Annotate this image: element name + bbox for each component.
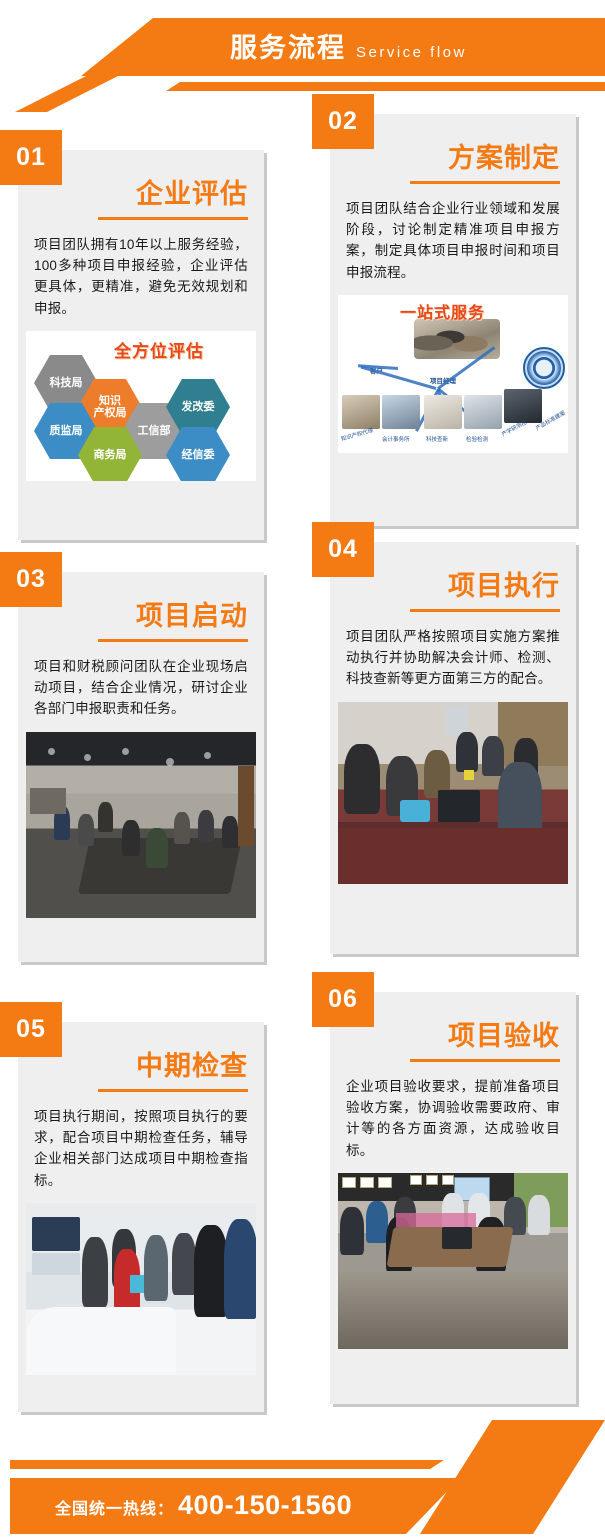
- page-footer: 全国统一热线： 400-150-1560: [0, 1420, 605, 1538]
- page-header: 服务流程 Service flow: [0, 0, 605, 112]
- project-acceptance-photo: [338, 1173, 568, 1349]
- service-flow-infographic: 服务流程 Service flow 01 企业评估 项目团队拥有10年以上服务经…: [0, 0, 605, 1538]
- one-stop-service-figure: 一站式服务 客户 项目经理: [338, 295, 568, 453]
- step-body-02: 项目团队结合企业行业领域和发展阶段，讨论制定精准项目申报方案，制定具体项目申报时…: [330, 184, 576, 295]
- page-title: 服务流程: [230, 26, 346, 65]
- header-title-group: 服务流程 Service flow: [230, 26, 467, 65]
- hotline-group[interactable]: 全国统一热线： 400-150-1560: [55, 1490, 352, 1521]
- thumb-ip-agency: [342, 395, 380, 429]
- step-card-04[interactable]: 04 项目执行 项目团队严格按照项目实施方案推动执行并协助解决会计师、检测、科技…: [330, 542, 576, 954]
- step-body-01: 项目团队拥有10年以上服务经验，100多种项目申报经验，企业评估更具体，更精准，…: [18, 220, 264, 331]
- assessment-hexagon-figure: 全方位评估 科技局 知识 产权局 质监局 工信部: [26, 331, 256, 481]
- step-body-06: 企业项目验收要求，提前准备项目验收方案，协调验收需要政府、审计等的各方面资源，达…: [330, 1062, 576, 1173]
- hexagon-chart-title: 全方位评估: [114, 337, 204, 362]
- step-body-05: 项目执行期间，按照项目执行的要求，配合项目中期检查任务，辅导企业相关部门达成项目…: [18, 1092, 264, 1203]
- label-inspection: 检验检测: [466, 435, 488, 443]
- label-tech-search: 科技查新: [426, 435, 448, 443]
- step-number-badge-06: 06: [312, 972, 374, 1027]
- step-card-02[interactable]: 02 方案制定 项目团队结合企业行业领域和发展阶段，讨论制定精准项目申报方案，制…: [330, 114, 576, 526]
- certification-seal-icon: [523, 347, 565, 389]
- step-body-03: 项目和财税顾问团队在企业现场启动项目，结合企业情况，研讨企业各部门申报职责和任务…: [18, 642, 264, 732]
- step-number-badge-03: 03: [0, 552, 62, 607]
- hotline-number: 400-150-1560: [178, 1490, 352, 1521]
- step-number-badge-04: 04: [312, 522, 374, 577]
- footer-diagonal-wedge: [420, 1420, 605, 1534]
- project-kickoff-photo: [26, 732, 256, 918]
- mid-term-inspection-photo: [26, 1203, 256, 1375]
- step-card-06[interactable]: 06 项目验收 企业项目验收要求，提前准备项目验收方案，协调验收需要政府、审计等…: [330, 992, 576, 1404]
- arrow-down-left: [361, 366, 437, 390]
- thumb-inspection: [464, 395, 502, 429]
- step-body-04: 项目团队严格按照项目实施方案推动执行并协助解决会计师、检测、科技查新等更方面第三…: [330, 612, 576, 702]
- one-stop-service-title: 一站式服务: [400, 299, 485, 323]
- label-accounting: 会计事务所: [382, 435, 410, 443]
- hotline-label: 全国统一热线：: [55, 1495, 174, 1519]
- page-subtitle: Service flow: [356, 44, 467, 61]
- step-number-badge-01: 01: [0, 130, 62, 185]
- step-number-badge-05: 05: [0, 1002, 62, 1057]
- step-card-05[interactable]: 05 中期检查 项目执行期间，按照项目执行的要求，配合项目中期检查任务，辅导企业…: [18, 1022, 264, 1412]
- project-execution-photo: [338, 702, 568, 884]
- thumb-tech-search: [424, 395, 462, 429]
- header-diagonal-tail: [0, 76, 210, 112]
- thumb-accounting: [382, 395, 420, 429]
- step-card-01[interactable]: 01 企业评估 项目团队拥有10年以上服务经验，100多种项目申报经验，企业评估…: [18, 150, 264, 540]
- step-card-03[interactable]: 03 项目启动 项目和财税顾问团队在企业现场启动项目，结合企业情况，研讨企业各部…: [18, 572, 264, 962]
- step-number-badge-02: 02: [312, 94, 374, 149]
